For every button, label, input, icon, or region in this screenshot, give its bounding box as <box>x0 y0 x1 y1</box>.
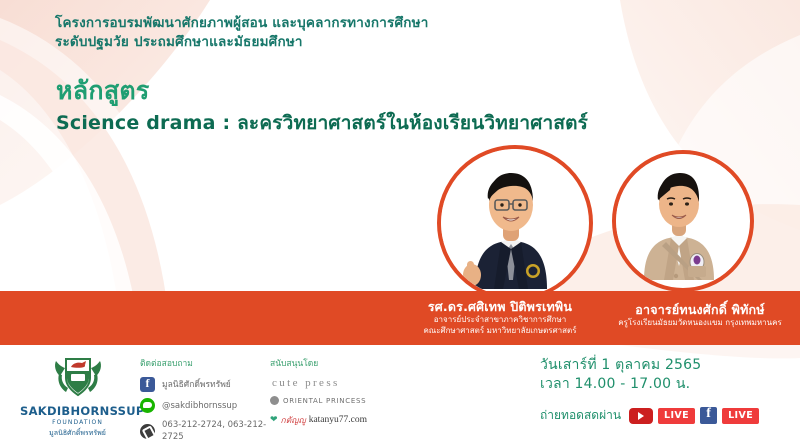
event-date: วันเสาร์ที่ 1 ตุลาคม 2565 <box>540 356 790 375</box>
speaker-photo-2 <box>612 150 754 292</box>
oriental-princess-icon <box>270 396 279 405</box>
contact-line-label: @sakdibhornssup <box>162 400 237 412</box>
heart-icon: ❤ <box>270 416 278 425</box>
speaker-caption-1: รศ.ดร.ศศิเทพ ปิติพรเทพิน อาจารย์ประจำสาข… <box>390 299 610 336</box>
foundation-subtitle: FOUNDATION <box>20 418 135 427</box>
speaker-photo-2-image <box>616 154 750 288</box>
contact-facebook-label: มูลนิธิศักดิ์พรทรัพย์ <box>162 379 231 391</box>
speaker-1-name: รศ.ดร.ศศิเทพ ปิติพรเทพิน <box>390 299 610 314</box>
sponsor-oriental-princess-label: ORIENTAL PRINCESS <box>283 397 366 405</box>
header-text-block: โครงการอบรมพัฒนาศักยภาพผู้สอน และบุคลากร… <box>55 14 615 52</box>
contact-heading: ติดต่อสอบถาม <box>140 358 270 370</box>
facebook-icon <box>140 377 155 392</box>
contact-line-row[interactable]: @sakdibhornssup <box>140 398 270 413</box>
speaker-1-affiliation-1: อาจารย์ประจำสาขาภาควิชาการศึกษา <box>390 314 610 325</box>
sponsor-cute-press-logo: cute press <box>272 377 430 389</box>
foundation-name: SAKDIBHORNSSUP <box>20 405 135 418</box>
facebook-live-badge[interactable]: LIVE <box>722 408 759 424</box>
speaker-1-illustration <box>441 149 581 289</box>
sponsor-katanyu-thai: กตัญญู <box>281 413 306 427</box>
phone-icon <box>140 424 155 439</box>
speaker-caption-2: อาจารย์ทนงศักดิ์ พิทักษ์ ครูโรงเรียนมัธย… <box>600 302 800 328</box>
contact-phone-row[interactable]: 063-212-2724, 063-212-2725 <box>140 419 270 443</box>
sponsor-katanyu-logo[interactable]: ❤ กตัญญู katanyu77.com <box>270 413 430 427</box>
sponsor-oriental-princess-logo: ORIENTAL PRINCESS <box>270 396 430 405</box>
program-line-2: ระดับปฐมวัย ประถมศึกษาและมัธยมศึกษา <box>55 33 615 52</box>
contact-phone-label: 063-212-2724, 063-212-2725 <box>162 419 270 443</box>
shield-crest-icon <box>51 354 105 400</box>
youtube-live-badge[interactable]: LIVE <box>658 408 695 424</box>
course-title: Science drama : ละครวิทยาศาสตร์ในห้องเรี… <box>56 110 588 136</box>
sponsor-heading: สนับสนุนโดย <box>270 358 430 370</box>
footer: SAKDIBHORNSSUP FOUNDATION มูลนิธิศักดิ์พ… <box>0 348 800 445</box>
program-line-1: โครงการอบรมพัฒนาศักยภาพผู้สอน และบุคลากร… <box>55 14 615 33</box>
sponsor-katanyu-url: katanyu77.com <box>309 415 367 425</box>
speaker-1-affiliation-2: คณะศึกษาศาสตร์ มหาวิทยาลัยเกษตรศาสตร์ <box>390 325 610 336</box>
speaker-2-name: อาจารย์ทนงศักดิ์ พิทักษ์ <box>600 302 800 317</box>
event-time: เวลา 14.00 - 17.00 น. <box>540 375 790 394</box>
poster-canvas: โครงการอบรมพัฒนาศักยภาพผู้สอน และบุคลากร… <box>0 0 800 445</box>
sponsor-column: สนับสนุนโดย cute press ORIENTAL PRINCESS… <box>270 358 430 427</box>
course-label: หลักสูตร <box>56 76 150 106</box>
line-icon <box>140 398 155 413</box>
youtube-icon[interactable] <box>629 408 653 424</box>
speaker-2-illustration <box>616 154 742 280</box>
contact-column: ติดต่อสอบถาม มูลนิธิศักดิ์พรทรัพย์ @sakd… <box>140 358 270 445</box>
broadcast-row: ถ่ายทอดสดผ่าน LIVE LIVE <box>540 406 790 425</box>
contact-facebook-row[interactable]: มูลนิธิศักดิ์พรทรัพย์ <box>140 377 270 392</box>
facebook-icon-square[interactable] <box>700 407 717 424</box>
speaker-photo-1-image <box>441 149 589 297</box>
speaker-photo-1 <box>437 145 593 301</box>
broadcast-label: ถ่ายทอดสดผ่าน <box>540 406 621 425</box>
schedule-column: วันเสาร์ที่ 1 ตุลาคม 2565 เวลา 14.00 - 1… <box>540 356 790 425</box>
foundation-thai-name: มูลนิธิศักดิ์พรทรัพย์ <box>20 428 135 438</box>
speaker-2-affiliation-1: ครูโรงเรียนมัธยมวัดหนองแขม กรุงเทพมหานคร <box>600 317 800 328</box>
foundation-logo-block: SAKDIBHORNSSUP FOUNDATION มูลนิธิศักดิ์พ… <box>20 354 135 438</box>
